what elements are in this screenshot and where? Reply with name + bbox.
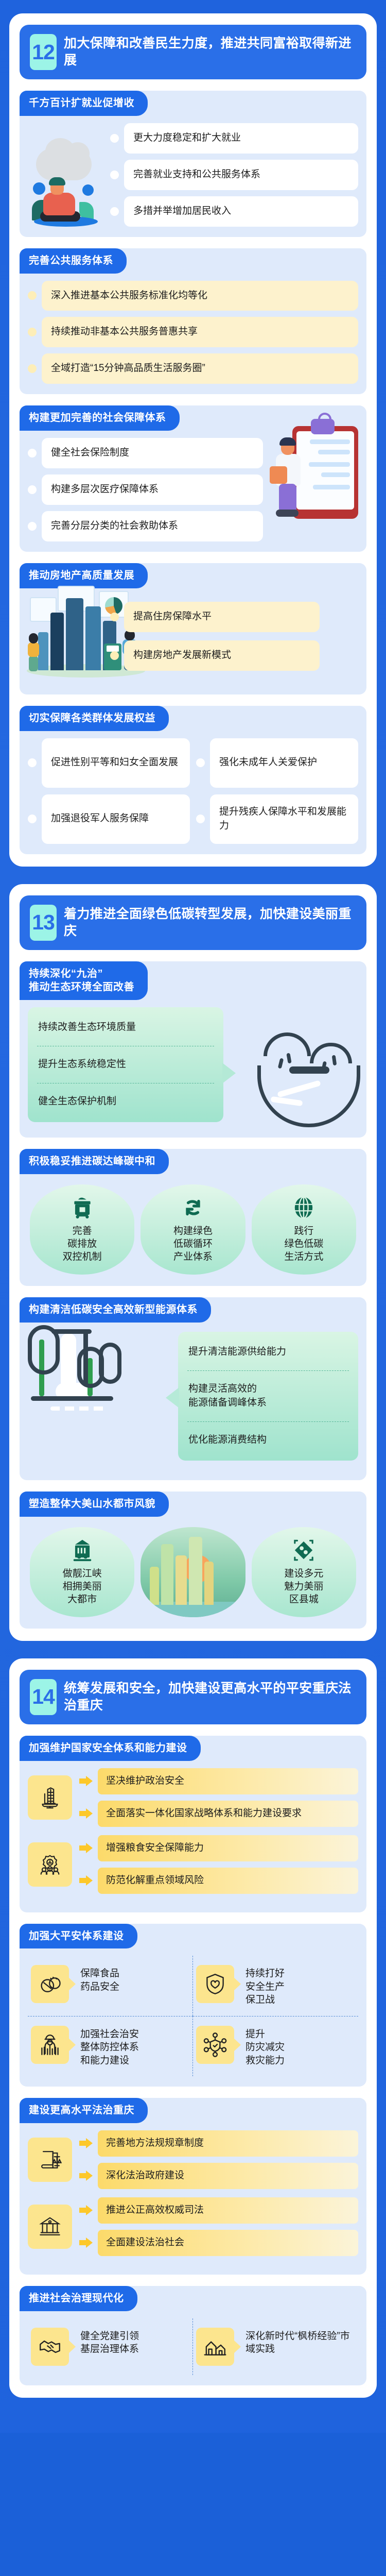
- list-item-label: 健全生态保护机制: [37, 1083, 214, 1120]
- bullet-dot: [28, 485, 37, 494]
- group-title: 塑造整体大美山水都市风貌: [20, 1492, 169, 1517]
- group-group-rights: 切实保障各类群体发展权益 促进性别平等和妇女全面发展 强化未成年人关爱保护 加强…: [20, 706, 366, 854]
- list-item[interactable]: 推进公正高效权威司法: [79, 2197, 358, 2224]
- group-national-security: 加强维护国家安全体系和能力建设 坚决维护政治安全: [20, 1736, 366, 1912]
- list-item-label: 健全社会保险制度: [42, 438, 263, 468]
- globe-icon: [255, 1194, 353, 1222]
- section-number-badge: 13: [30, 905, 57, 941]
- callout-tail: [222, 1063, 236, 1083]
- group-safety-system: 加强大平安体系建设 保障食品 药品安全: [20, 1924, 366, 2087]
- group-social-governance: 推进社会治理现代化 健全党建引领 基层治理体系: [20, 2286, 366, 2385]
- list-item[interactable]: 全面建设法治社会: [79, 2230, 358, 2256]
- list-item-label: 提升生态系统稳定性: [37, 1046, 214, 1083]
- oval-label: 完善 碳排放 双控机制: [33, 1225, 131, 1263]
- list-item-label: 加强社会治安 整体防控体系 和能力建设: [69, 2026, 139, 2067]
- bullet-dot: [28, 449, 37, 457]
- bullet-dot: [110, 207, 119, 216]
- list-item-label: 提高住房保障水平: [124, 602, 320, 632]
- list-item[interactable]: 健全社会保险制度: [28, 438, 358, 468]
- oval-label: 践行 绿色低碳 生活方式: [255, 1225, 353, 1263]
- list-item[interactable]: 深入推进基本公共服务标准化均等化: [28, 281, 358, 311]
- pills-icon: [31, 1965, 69, 2003]
- list-item[interactable]: 深化新时代“枫桥经验”市域实践: [193, 2318, 358, 2375]
- group-title: 持续深化“九治” 推动生态环境全面改善: [20, 961, 148, 1001]
- arrow-right-icon: [79, 1776, 93, 1786]
- arrow-right-icon: [79, 2171, 93, 2181]
- list-item-label: 加强退役军人服务保障: [42, 794, 190, 844]
- list-item-label: 强化未成年人关爱保护: [210, 738, 358, 788]
- group-title: 千方百计扩就业促增收: [20, 91, 148, 116]
- oval-card[interactable]: 构建绿色 低碳循环 产业体系: [141, 1184, 245, 1275]
- group-eco-governance: 持续深化“九治” 推动生态环境全面改善 持续改善生态环境质量 提升生态系统稳定性…: [20, 961, 366, 1138]
- bullet-dot: [28, 291, 37, 300]
- arrow-right-icon: [79, 1808, 93, 1819]
- list-item[interactable]: 坚决维护政治安全: [79, 1768, 358, 1794]
- green-list-card: 提升清洁能源供给能力 构建灵活高效的 能源储备调峰体系 优化能源消费结构: [178, 1332, 358, 1461]
- shield-heart-icon: [196, 1965, 234, 2003]
- building-people-icon: [33, 1536, 131, 1564]
- village-icon: [196, 2328, 234, 2366]
- group-title: 构建清洁低碳安全高效新型能源体系: [20, 1297, 211, 1323]
- list-item-label: 全域打造“15分钟高品质生活服务圈”: [42, 353, 358, 384]
- group-title: 建设更高水平法治重庆: [20, 2098, 148, 2123]
- list-item[interactable]: 提升残疾人保障水平和发展能力: [196, 794, 358, 844]
- green-list-card: 持续改善生态环境质量 提升生态系统稳定性 健全生态保护机制: [28, 1007, 223, 1122]
- list-item[interactable]: 提高住房保障水平: [28, 602, 358, 632]
- section-13: 13 着力推进全面绿色低碳转型发展，加快建设美丽重庆 持续深化“九治” 推动生态…: [9, 884, 377, 1641]
- list-item[interactable]: 持续打好 安全生产 保卫战: [193, 1956, 358, 2015]
- list-item[interactable]: 加强社会治安 整体防控体系 和能力建设: [28, 2016, 193, 2076]
- callout-tail: [166, 1387, 179, 1408]
- list-item-label: 构建房地产发展新模式: [124, 640, 320, 671]
- network-shield-icon: [196, 2026, 234, 2064]
- gear-people-icon: [28, 1842, 72, 1887]
- section-title: 着力推进全面绿色低碳转型发展，加快建设美丽重庆: [64, 906, 356, 940]
- puzzle-diamond-icon: [255, 1536, 353, 1564]
- section-12-header: 12 加大保障和改善民生力度，推进共同富裕取得新进展: [20, 25, 366, 79]
- bullet-dot: [196, 758, 205, 767]
- trash-bin-icon: [33, 1194, 131, 1222]
- bullet-dot: [28, 522, 37, 531]
- courthouse-icon: [28, 2205, 72, 2249]
- section-number-badge: 14: [30, 1679, 57, 1715]
- group-title: 推动房地产高质量发展: [20, 563, 148, 588]
- list-item[interactable]: 多措并举增加居民收入: [28, 196, 358, 227]
- bullet-dot: [110, 134, 119, 143]
- section-13-header: 13 着力推进全面绿色低碳转型发展，加快建设美丽重庆: [20, 895, 366, 950]
- list-item-label: 防范化解重点领域风险: [98, 1868, 358, 1894]
- list-item-label: 构建灵活高效的 能源储备调峰体系: [187, 1371, 349, 1422]
- group-title: 加强维护国家安全体系和能力建设: [20, 1736, 201, 1761]
- list-item[interactable]: 增强粮食安全保障能力: [79, 1835, 358, 1861]
- oval-card[interactable]: 践行 绿色低碳 生活方式: [252, 1184, 356, 1275]
- list-item-label: 深入推进基本公共服务标准化均等化: [42, 281, 358, 311]
- bullet-dot: [28, 758, 37, 767]
- bullet-dot: [110, 651, 119, 660]
- group-city-landscape: 塑造整体大美山水都市风貌 做靓江: [20, 1492, 366, 1629]
- list-item-label: 构建多层次医疗保障体系: [42, 474, 263, 505]
- section-12: 12 加大保障和改善民生力度，推进共同富裕取得新进展 千方百计扩就业促增收 更大…: [9, 13, 377, 867]
- list-item[interactable]: 构建多层次医疗保障体系: [28, 474, 358, 505]
- list-item-label: 健全党建引领 基层治理体系: [69, 2328, 139, 2356]
- list-item[interactable]: 全面落实一体化国家战略体系和能力建设要求: [79, 1801, 358, 1827]
- arrow-right-icon: [79, 1875, 93, 1886]
- group-carbon-peak: 积极稳妥推进碳达峰碳中和 完善 碳排放 双控机制: [20, 1149, 366, 1286]
- list-item-label: 更大力度稳定和扩大就业: [124, 123, 358, 154]
- arrow-right-icon: [79, 1843, 93, 1853]
- group-social-security: 构建更加完善的社会保障体系 健全社会保险制度 构建多层次医疗保障体系: [20, 405, 366, 552]
- list-item[interactable]: 强化未成年人关爱保护: [196, 738, 358, 788]
- list-item[interactable]: 提升 防灾减灾 救灾能力: [193, 2016, 358, 2076]
- list-item-label: 完善分层分类的社会救助体系: [42, 511, 263, 541]
- list-item-label: 全面落实一体化国家战略体系和能力建设要求: [98, 1801, 358, 1827]
- oval-label: 建设多元 魅力美丽 区县城: [255, 1567, 353, 1606]
- arrow-right-icon: [79, 2205, 93, 2215]
- law-book-gavel-icon: [28, 2138, 72, 2182]
- list-item-label: 促进性别平等和妇女全面发展: [42, 738, 190, 788]
- recycle-icon: [144, 1194, 242, 1222]
- oval-label: 构建绿色 低碳循环 产业体系: [144, 1225, 242, 1263]
- list-item[interactable]: 构建房地产发展新模式: [28, 640, 358, 671]
- list-item-label: 持续打好 安全生产 保卫战: [234, 1965, 285, 2006]
- list-item[interactable]: 健全党建引领 基层治理体系: [28, 2318, 193, 2375]
- list-item[interactable]: 完善地方法规规章制度: [79, 2130, 358, 2157]
- list-item[interactable]: 深化法治政府建设: [79, 2163, 358, 2189]
- group-title: 切实保障各类群体发展权益: [20, 706, 169, 731]
- section-number-badge: 12: [30, 34, 57, 70]
- infographic-page: 12 加大保障和改善民生力度，推进共同富裕取得新进展 千方百计扩就业促增收 更大…: [0, 0, 386, 2433]
- list-item[interactable]: 全域打造“15分钟高品质生活服务圈”: [28, 353, 358, 384]
- list-item-label: 深化法治政府建设: [98, 2163, 358, 2189]
- list-item-label: 完善地方法规规章制度: [98, 2130, 358, 2157]
- list-item-label: 增强粮食安全保障能力: [98, 1835, 358, 1861]
- group-title: 积极稳妥推进碳达峰碳中和: [20, 1149, 169, 1174]
- list-item[interactable]: 促进性别平等和妇女全面发展: [28, 738, 190, 788]
- arrow-right-icon: [79, 2138, 93, 2148]
- group-title: 构建更加完善的社会保障体系: [20, 405, 180, 431]
- section-title: 统筹发展和安全，加快建设更高水平的平安重庆法治重庆: [64, 1680, 356, 1714]
- oval-card[interactable]: 做靓江峡 相拥美丽 大都市: [30, 1527, 134, 1617]
- arrow-right-icon: [79, 2238, 93, 2248]
- section-title: 加大保障和改善民生力度，推进共同富裕取得新进展: [64, 35, 356, 69]
- section-14-header: 14 统筹发展和安全，加快建设更高水平的平安重庆法治重庆: [20, 1670, 366, 1724]
- group-energy-system: 构建清洁低碳安全高效新型能源体系 提升清洁能源供给能力 构建灵活高效的 能源储备…: [20, 1297, 366, 1480]
- oval-label: 做靓江峡 相拥美丽 大都市: [33, 1567, 131, 1606]
- list-item[interactable]: 完善就业支持和公共服务体系: [28, 160, 358, 190]
- group-title: 加强大平安体系建设: [20, 1924, 137, 1949]
- handshake-icon: [31, 2328, 69, 2366]
- bullet-dot: [110, 171, 119, 179]
- tower-monitor-icon: [28, 1775, 72, 1820]
- bullet-dot: [110, 613, 119, 621]
- bullet-dot: [196, 815, 205, 823]
- list-item-label: 完善就业支持和公共服务体系: [124, 160, 358, 190]
- group-title: 完善公共服务体系: [20, 248, 127, 274]
- list-item-label: 坚决维护政治安全: [98, 1768, 358, 1794]
- bullet-dot: [28, 815, 37, 823]
- list-item[interactable]: 更大力度稳定和扩大就业: [28, 123, 358, 154]
- list-item-label: 提升残疾人保障水平和发展能力: [210, 794, 358, 844]
- group-public-services: 完善公共服务体系 深入推进基本公共服务标准化均等化 持续推动非基本公共服务普惠共…: [20, 248, 366, 395]
- list-item-label: 持续推动非基本公共服务普惠共享: [42, 317, 358, 347]
- list-item-label: 深化新时代“枫桥经验”市域实践: [234, 2328, 355, 2356]
- bullet-dot: [28, 328, 37, 336]
- group-employment: 千方百计扩就业促增收 更大力度稳定和扩大就业 完善就业支持和公共服务体系 多措并…: [20, 91, 366, 237]
- city-photo-oval: [141, 1527, 245, 1617]
- list-item[interactable]: 持续推动非基本公共服务普惠共享: [28, 317, 358, 347]
- oval-card[interactable]: 完善 碳排放 双控机制: [30, 1184, 134, 1275]
- list-item-label: 保障食品 药品安全: [69, 1965, 119, 1993]
- list-item-label: 全面建设法治社会: [98, 2230, 358, 2256]
- list-item[interactable]: 完善分层分类的社会救助体系: [28, 511, 358, 541]
- list-item[interactable]: 防范化解重点领域风险: [79, 1868, 358, 1894]
- list-item-label: 提升 防灾减灾 救灾能力: [234, 2026, 285, 2067]
- oval-card[interactable]: 建设多元 魅力美丽 区县城: [252, 1527, 356, 1617]
- group-title: 推进社会治理现代化: [20, 2286, 137, 2311]
- list-item-label: 提升清洁能源供给能力: [187, 1334, 349, 1371]
- group-rule-of-law: 建设更高水平法治重庆 完善地方法规规章制度: [20, 2098, 366, 2275]
- section-14: 14 统筹发展和安全，加快建设更高水平的平安重庆法治重庆 加强维护国家安全体系和…: [9, 1658, 377, 2398]
- list-item[interactable]: 保障食品 药品安全: [28, 1956, 193, 2015]
- list-item-label: 优化能源消费结构: [187, 1422, 349, 1459]
- group-real-estate: 推动房地产高质量发展 提高住房保障水平 构建房地产发展新模式: [20, 563, 366, 694]
- list-item-label: 持续改善生态环境质量: [37, 1009, 214, 1046]
- guard-people-icon: [31, 2026, 69, 2064]
- list-item-label: 推进公正高效权威司法: [98, 2197, 358, 2224]
- bullet-dot: [28, 364, 37, 373]
- list-item-label: 多措并举增加居民收入: [124, 196, 358, 227]
- list-item[interactable]: 加强退役军人服务保障: [28, 794, 190, 844]
